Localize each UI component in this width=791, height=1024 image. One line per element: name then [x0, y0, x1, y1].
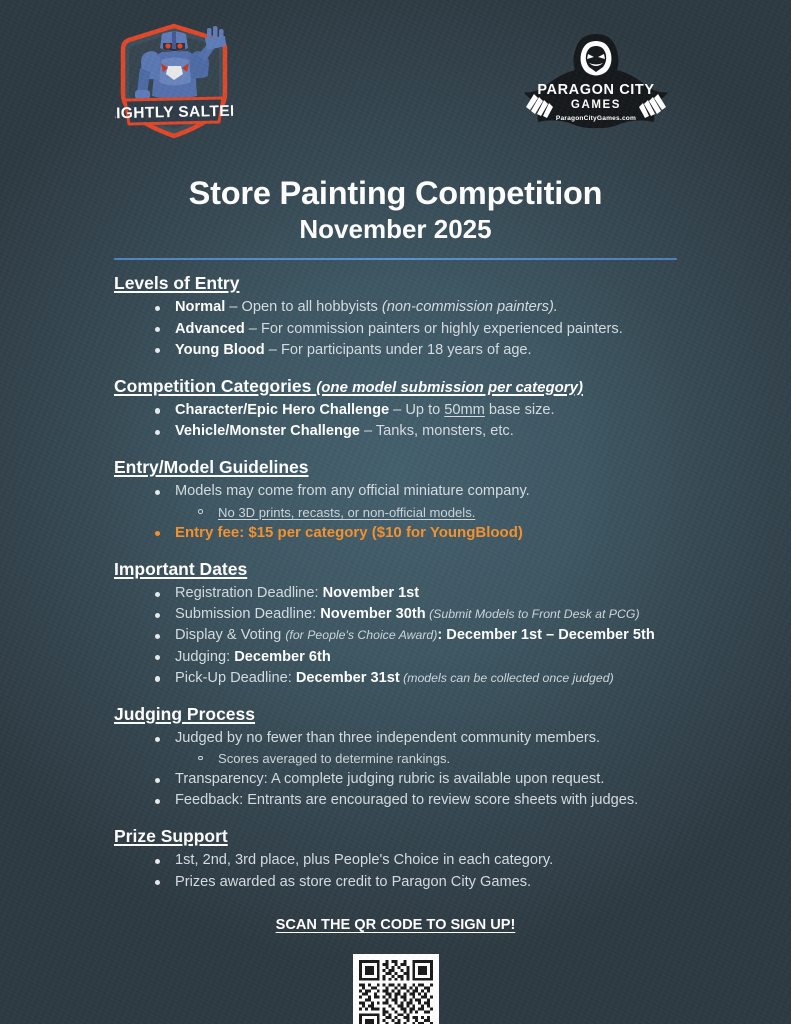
item-date: November 30th — [320, 606, 425, 622]
item-text: Open to all hobbyists — [242, 299, 382, 315]
item-dash: – — [245, 321, 261, 337]
item-label: Character/Epic Hero Challenge — [175, 402, 389, 418]
prize-support-list: 1st, 2nd, 3rd place, plus People's Choic… — [114, 850, 751, 892]
item-text: 1st, 2nd, 3rd place, plus People's Choic… — [175, 852, 553, 868]
item-text: Tanks, monsters, etc. — [376, 423, 514, 439]
poster-page: LIGHTLY SALTED — [0, 0, 791, 1024]
paragon-city-games-logo: PARAGON CITY GAMES ParagonCityGames.com — [516, 32, 676, 140]
competition-categories-list: Character/Epic Hero Challenge – Up to 50… — [114, 400, 751, 442]
item-note: (for People's Choice Award) — [285, 628, 437, 642]
item-label: Vehicle/Monster Challenge — [175, 423, 360, 439]
item-date: November 1st — [323, 585, 420, 601]
item-note: (Submit Models to Front Desk at PCG) — [426, 607, 640, 621]
item-dash: – — [389, 402, 405, 418]
section-heading: Entry/Model Guidelines — [114, 457, 308, 478]
entry-fee-item: Entry fee: $15 per category ($10 for You… — [152, 522, 751, 544]
item-text: Up to — [405, 402, 444, 418]
qr-code[interactable] — [353, 954, 439, 1024]
list-item: Normal – Open to all hobbyists (non-comm… — [152, 297, 751, 318]
item-text: For participants under 18 years of age. — [281, 342, 532, 358]
list-item: 1st, 2nd, 3rd place, plus People's Choic… — [152, 850, 751, 871]
title-block: Store Painting Competition November 2025 — [0, 176, 791, 260]
list-item: Advanced – For commission painters or hi… — [152, 319, 751, 340]
item-text-post: base size. — [485, 402, 555, 418]
list-item: Judged by no fewer than three independen… — [152, 728, 751, 769]
item-lead: Submission Deadline: — [175, 606, 320, 622]
item-label: Young Blood — [175, 342, 265, 358]
section-heading: Important Dates — [114, 559, 247, 580]
pcg-line3: ParagonCityGames.com — [556, 115, 636, 122]
item-text: Transparency: A complete judging rubric … — [175, 771, 604, 787]
list-item: Submission Deadline: November 30th (Subm… — [152, 604, 751, 625]
item-text: Judged by no fewer than three independen… — [175, 730, 600, 746]
section-heading: Competition Categories (one model submis… — [114, 376, 583, 397]
section-heading-note: (one model submission per category) — [316, 379, 583, 396]
section-heading: Prize Support — [114, 826, 228, 847]
section-heading: Levels of Entry — [114, 273, 239, 294]
sub-item-text: Scores averaged to determine rankings. — [218, 751, 450, 766]
item-dash: – — [225, 299, 241, 315]
item-text: Models may come from any official miniat… — [175, 483, 530, 499]
scan-qr-callout: SCAN THE QR CODE TO SIGN UP! — [0, 917, 791, 933]
important-dates-list: Registration Deadline: November 1st Subm… — [114, 583, 751, 689]
list-item: Registration Deadline: November 1st — [152, 583, 751, 604]
section-entry-model-guidelines: Entry/Model Guidelines Models may come f… — [0, 457, 791, 544]
list-item: Feedback: Entrants are encouraged to rev… — [152, 790, 751, 811]
section-important-dates: Important Dates Registration Deadline: N… — [0, 559, 791, 689]
pcg-line2: GAMES — [571, 99, 621, 111]
levels-of-entry-list: Normal – Open to all hobbyists (non-comm… — [114, 297, 751, 361]
item-text: Feedback: Entrants are encouraged to rev… — [175, 792, 638, 808]
item-date: December 6th — [234, 649, 331, 665]
item-dash: – — [265, 342, 281, 358]
page-title: Store Painting Competition — [0, 176, 791, 211]
pcg-line1: PARAGON CITY — [537, 82, 654, 98]
section-judging-process: Judging Process Judged by no fewer than … — [0, 704, 791, 811]
header-logos: LIGHTLY SALTED — [0, 0, 791, 152]
item-label: Normal — [175, 299, 225, 315]
item-underlined: 50mm — [444, 402, 485, 418]
lightly-salted-wordmark: LIGHTLY SALTED — [115, 103, 233, 123]
item-lead: Display & Voting — [175, 627, 285, 643]
section-heading-text: Competition Categories — [114, 376, 311, 396]
section-prize-support: Prize Support 1st, 2nd, 3rd place, plus … — [0, 826, 791, 892]
poster-content: Levels of Entry Normal – Open to all hob… — [0, 260, 791, 1024]
item-label: Advanced — [175, 321, 245, 337]
section-levels-of-entry: Levels of Entry Normal – Open to all hob… — [0, 273, 791, 361]
item-text: For commission painters or highly experi… — [261, 321, 623, 337]
sub-item-text: No 3D prints, recasts, or non-official m… — [218, 505, 475, 520]
list-item: Young Blood – For participants under 18 … — [152, 340, 751, 361]
item-note: (models can be collected once judged) — [400, 671, 614, 685]
section-heading: Judging Process — [114, 704, 255, 725]
judging-process-list: Judged by no fewer than three independen… — [114, 728, 751, 811]
list-item: Pick-Up Deadline: December 31st (models … — [152, 668, 751, 689]
item-text: Prizes awarded as store credit to Parago… — [175, 874, 531, 890]
entry-guidelines-sublist: No 3D prints, recasts, or non-official m… — [175, 503, 751, 523]
item-italic-note: (non-commission painters). — [382, 299, 558, 315]
sub-list-item: Scores averaged to determine rankings. — [195, 749, 751, 769]
item-dash: – — [360, 423, 376, 439]
item-text: Entry fee: $15 per category ($10 for You… — [175, 524, 523, 541]
section-competition-categories: Competition Categories (one model submis… — [0, 376, 791, 442]
list-item: Models may come from any official miniat… — [152, 481, 751, 522]
item-lead: Judging: — [175, 649, 234, 665]
entry-guidelines-list: Models may come from any official miniat… — [114, 481, 751, 544]
item-lead: Pick-Up Deadline: — [175, 670, 296, 686]
list-item: Prizes awarded as store credit to Parago… — [152, 872, 751, 893]
item-lead: Registration Deadline: — [175, 585, 323, 601]
lightly-salted-logo: LIGHTLY SALTED — [115, 22, 233, 140]
list-item: Vehicle/Monster Challenge – Tanks, monst… — [152, 421, 751, 442]
page-subtitle: November 2025 — [0, 214, 791, 245]
item-date: : December 1st – December 5th — [437, 627, 654, 643]
judging-sublist: Scores averaged to determine rankings. — [175, 749, 751, 769]
list-item: Character/Epic Hero Challenge – Up to 50… — [152, 400, 751, 421]
list-item: Transparency: A complete judging rubric … — [152, 769, 751, 790]
list-item: Display & Voting (for People's Choice Aw… — [152, 625, 751, 646]
sub-list-item: No 3D prints, recasts, or non-official m… — [195, 503, 751, 523]
list-item: Judging: December 6th — [152, 647, 751, 668]
item-date: December 31st — [296, 670, 400, 686]
